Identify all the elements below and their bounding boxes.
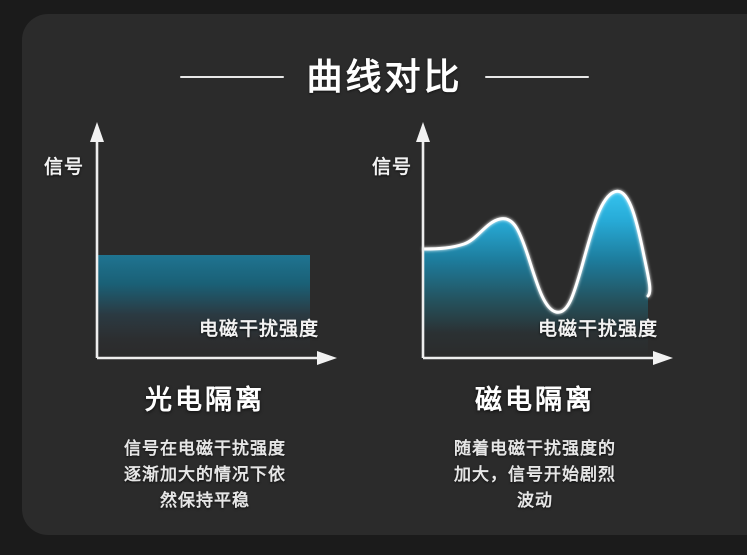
title-rule-left-icon (180, 76, 284, 78)
page-title-row: 曲线对比 (22, 46, 747, 108)
x-axis-label: 电磁干扰强度 (199, 314, 319, 341)
x-axis-label: 电磁干扰强度 (538, 314, 658, 341)
caption-line: 波动 (370, 488, 700, 514)
caption-line: 然保持平稳 (40, 488, 370, 514)
caption-line: 逐渐加大的情况下依 (40, 462, 370, 488)
caption-title: 磁电隔离 (370, 386, 700, 416)
caption-line: 信号在电磁干扰强度 (40, 436, 370, 462)
content-panel: 曲线对比 (22, 14, 747, 535)
x-axis-arrow-icon (653, 351, 673, 365)
caption-body: 随着电磁干扰强度的 加大，信号开始剧烈 波动 (370, 436, 700, 515)
caption-magnetic-isolation: 磁电隔离 随着电磁干扰强度的 加大，信号开始剧烈 波动 (370, 386, 700, 515)
captions-area: 光电隔离 信号在电磁干扰强度 逐渐加大的情况下依 然保持平稳 磁电隔离 随着电磁… (22, 386, 747, 536)
y-axis-label: 信号 (44, 152, 84, 179)
page-title: 曲线对比 (306, 59, 462, 95)
title-rule-right-icon (485, 76, 589, 78)
screenshot-root: 曲线对比 (0, 0, 747, 555)
magnetic-isolation-plot (360, 106, 700, 386)
optical-isolation-chart: 信号 电磁干扰强度 (34, 106, 374, 386)
caption-body: 信号在电磁干扰强度 逐渐加大的情况下依 然保持平稳 (40, 436, 370, 515)
optical-isolation-plot (34, 106, 374, 386)
caption-title: 光电隔离 (40, 386, 370, 416)
magnetic-isolation-chart: 信号 电磁干扰强度 (360, 106, 700, 386)
y-axis-arrow-icon (416, 122, 430, 142)
y-axis-arrow-icon (90, 122, 104, 142)
charts-area: 信号 电磁干扰强度 (22, 106, 747, 386)
x-axis-arrow-icon (317, 351, 337, 365)
y-axis-label: 信号 (372, 152, 412, 179)
caption-optical-isolation: 光电隔离 信号在电磁干扰强度 逐渐加大的情况下依 然保持平稳 (40, 386, 370, 515)
caption-line: 随着电磁干扰强度的 (370, 436, 700, 462)
optical-signal-area (96, 255, 310, 358)
caption-line: 加大，信号开始剧烈 (370, 462, 700, 488)
